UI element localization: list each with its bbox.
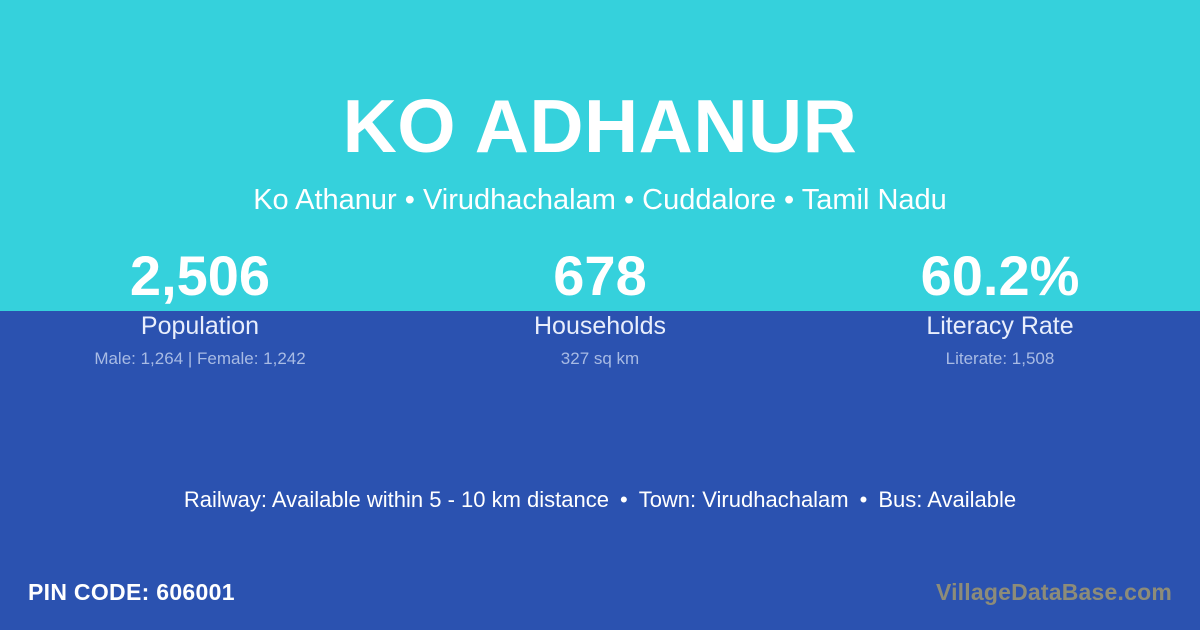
page-title: KO ADHANUR <box>0 82 1200 170</box>
stat-label-literacy-rate: Literacy Rate <box>800 310 1200 342</box>
stat-households: 678 Households 327 sq km <box>400 242 800 370</box>
stat-literacy-rate: 60.2% Literacy Rate Literate: 1,508 <box>800 242 1200 370</box>
stat-sub-population: Male: 1,264 | Female: 1,242 <box>0 348 400 370</box>
stat-population: 2,506 Population Male: 1,264 | Female: 1… <box>0 242 400 370</box>
stat-label-population: Population <box>0 310 400 342</box>
facility-town: Town: Virudhachalam <box>639 487 849 512</box>
village-info-card: KO ADHANUR Ko Athanur • Virudhachalam • … <box>0 0 1200 630</box>
footer: PIN CODE: 606001 VillageDataBase.com <box>0 570 1200 614</box>
facility-separator-1: • <box>609 485 639 515</box>
pin-code: PIN CODE: 606001 <box>28 577 235 607</box>
stat-value-population: 2,506 <box>0 242 400 310</box>
brand-watermark: VillageDataBase.com <box>936 577 1172 607</box>
facility-bus: Bus: Available <box>878 487 1016 512</box>
stats-row: 2,506 Population Male: 1,264 | Female: 1… <box>0 242 1200 370</box>
stat-value-literacy-rate: 60.2% <box>800 242 1200 310</box>
stat-value-households: 678 <box>400 242 800 310</box>
stat-sub-households: 327 sq km <box>400 348 800 370</box>
facilities-line: Railway: Available within 5 - 10 km dist… <box>0 485 1200 515</box>
facility-separator-2: • <box>849 485 879 515</box>
breadcrumb: Ko Athanur • Virudhachalam • Cuddalore •… <box>0 182 1200 218</box>
stat-sub-literacy-rate: Literate: 1,508 <box>800 348 1200 370</box>
stat-label-households: Households <box>400 310 800 342</box>
facility-railway: Railway: Available within 5 - 10 km dist… <box>184 487 609 512</box>
